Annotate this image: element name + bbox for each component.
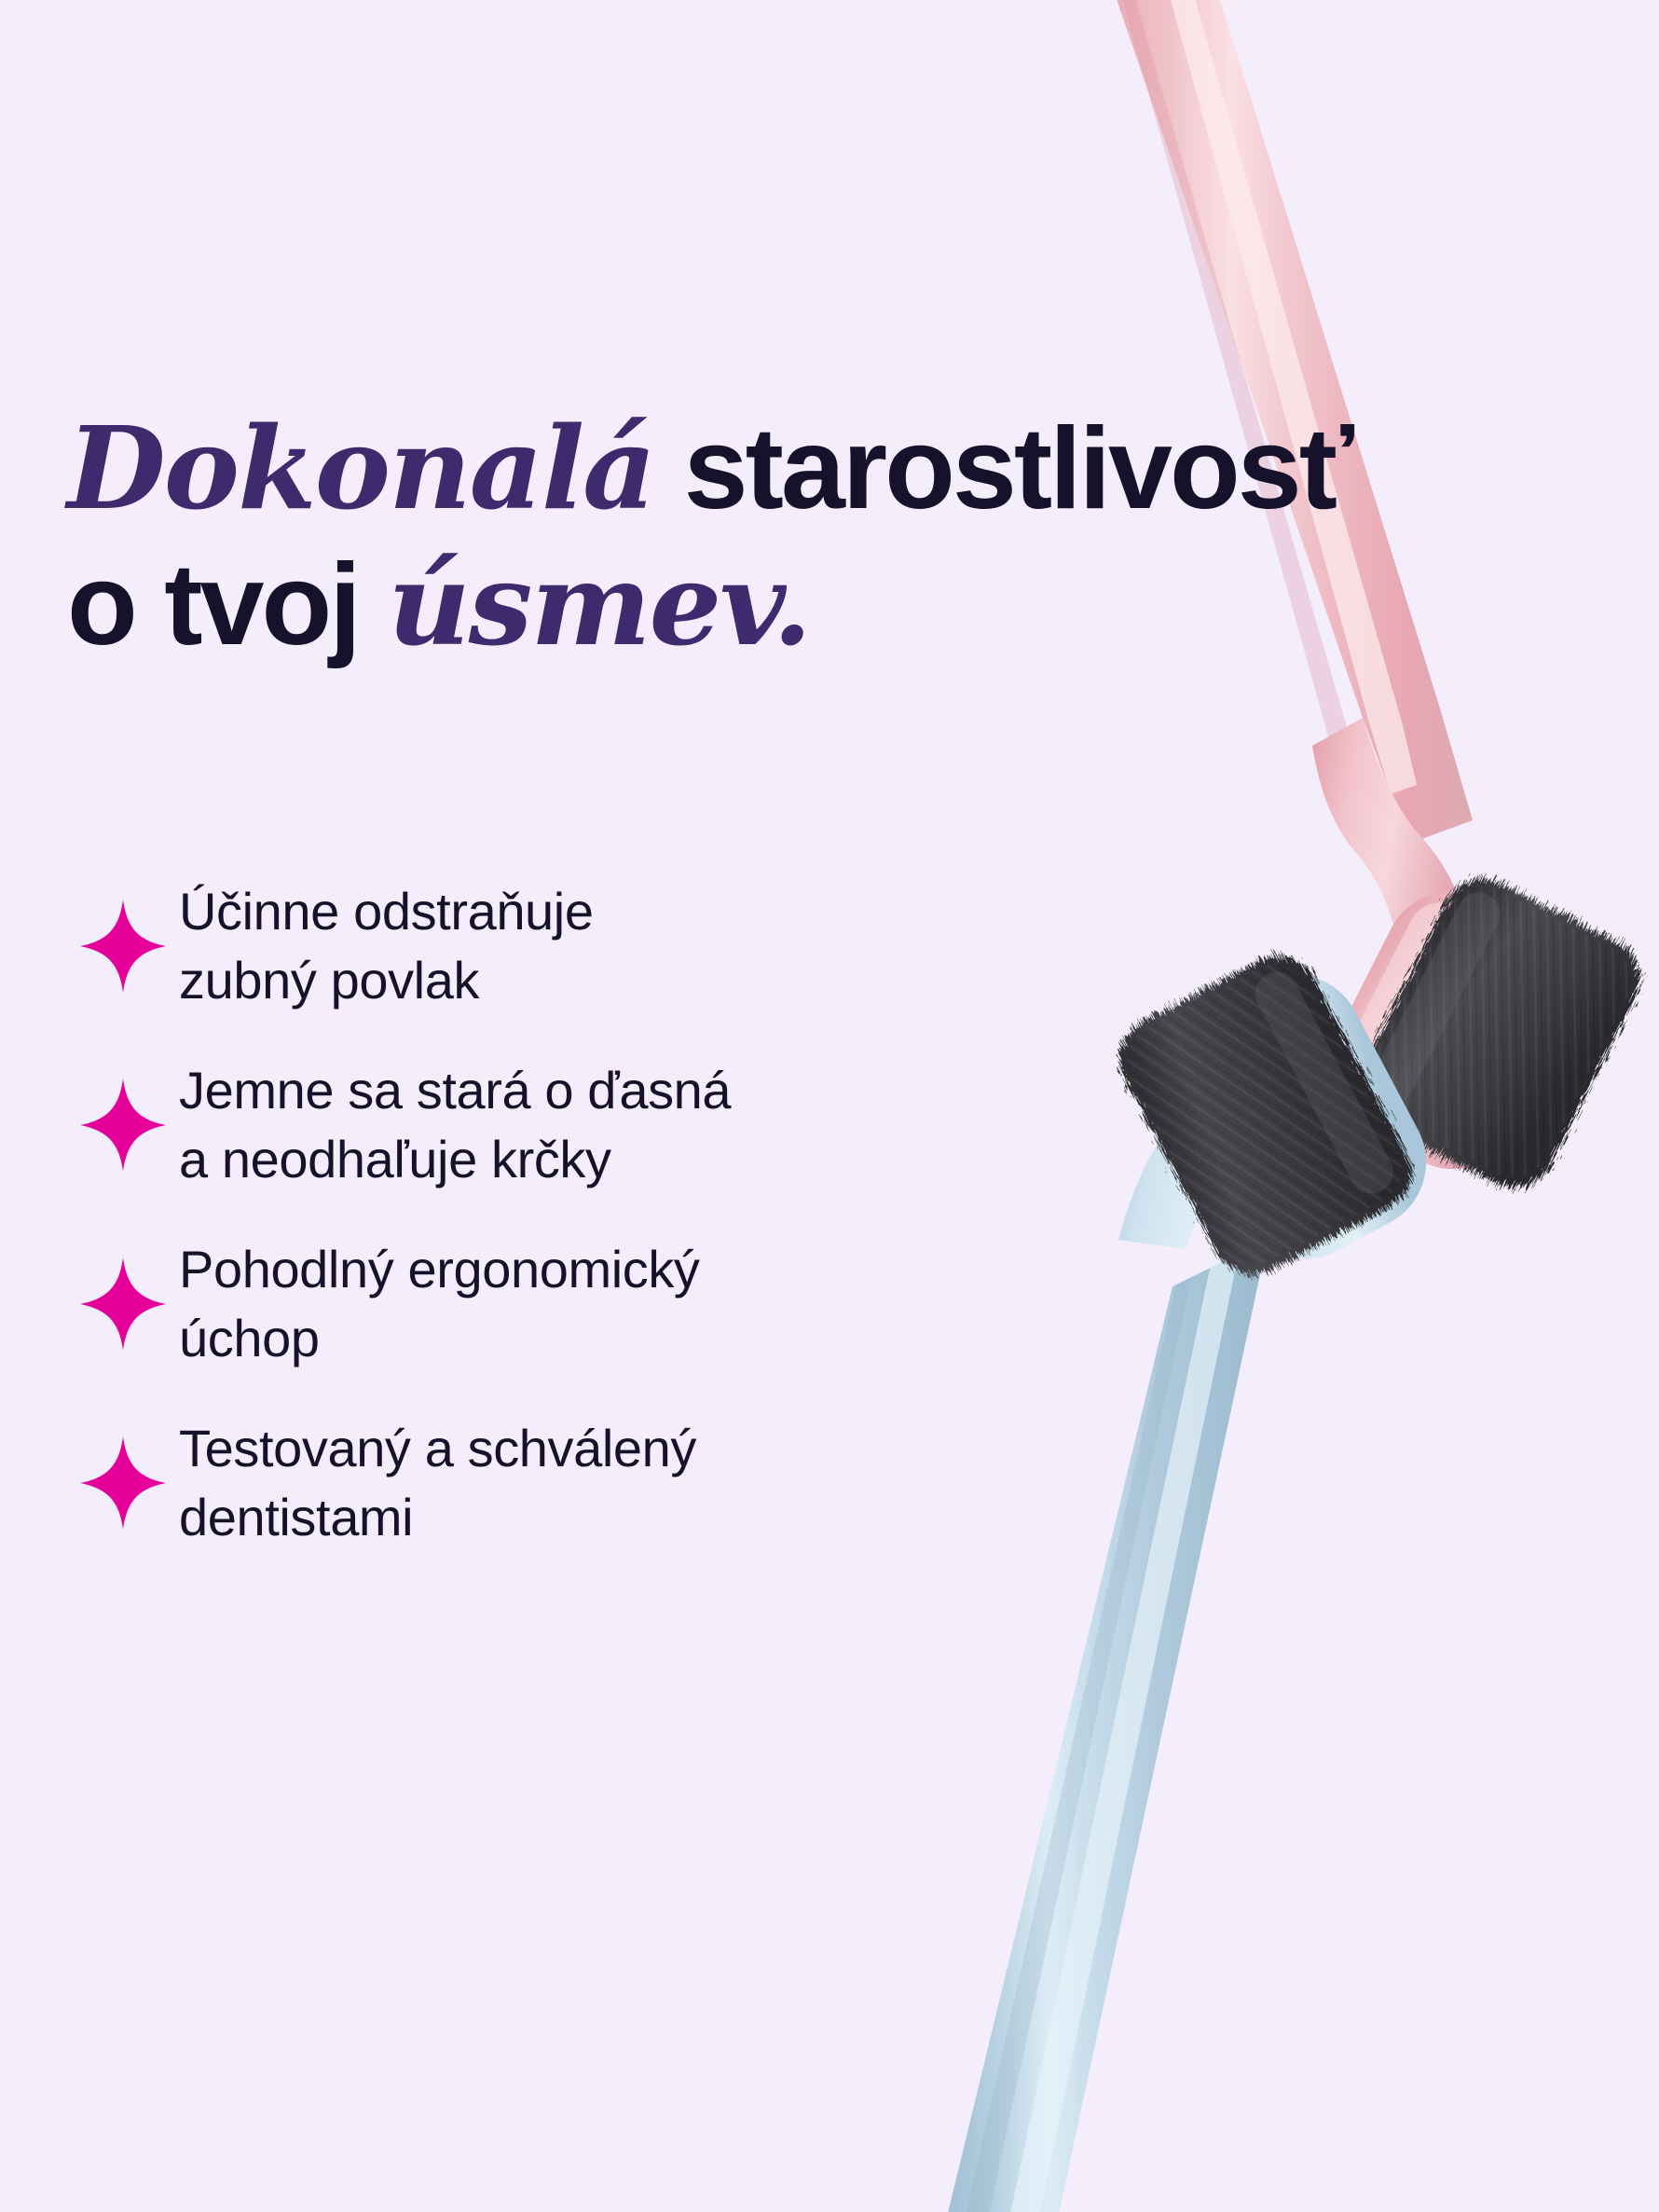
headline-line-1: Dokonalá starostlivosť <box>67 401 1596 537</box>
list-item-label: Testovaný a schválený dentistami <box>179 1414 696 1552</box>
poster-content: Dokonalá starostlivosť o tvoj úsmev. Úči… <box>0 0 1659 2212</box>
headline-script-dokonala: Dokonalá <box>67 401 654 535</box>
headline-bold-o-tvoj: o tvoj <box>67 541 388 669</box>
list-item: Účinne odstraňuje zubný povlak <box>67 876 1046 1016</box>
list-item: Jemne sa stará o ďasná a neodhaľuje krčk… <box>67 1055 1046 1195</box>
list-item: Testovaný a schválený dentistami <box>67 1413 1046 1553</box>
sparkle-star-icon <box>67 1257 179 1351</box>
headline-line-2: o tvoj úsmev. <box>67 537 1596 673</box>
benefits-list: Účinne odstraňuje zubný povlak Jemne sa … <box>67 876 1046 1553</box>
sparkle-star-icon <box>67 1079 179 1172</box>
headline-bold-starostlivost: starostlivosť <box>654 405 1351 533</box>
list-item-label: Jemne sa stará o ďasná a neodhaľuje krčk… <box>179 1056 731 1194</box>
sparkle-star-icon <box>67 900 179 993</box>
headline-script-usmev: úsmev. <box>388 537 810 671</box>
list-item-label: Účinne odstraňuje zubný povlak <box>179 877 594 1015</box>
page-title: Dokonalá starostlivosť o tvoj úsmev. <box>67 401 1596 674</box>
poster-canvas: Dokonalá starostlivosť o tvoj úsmev. Úči… <box>0 0 1659 2212</box>
sparkle-star-icon <box>67 1436 179 1530</box>
list-item: Pohodlný ergonomický úchop <box>67 1234 1046 1374</box>
list-item-label: Pohodlný ergonomický úchop <box>179 1235 700 1373</box>
